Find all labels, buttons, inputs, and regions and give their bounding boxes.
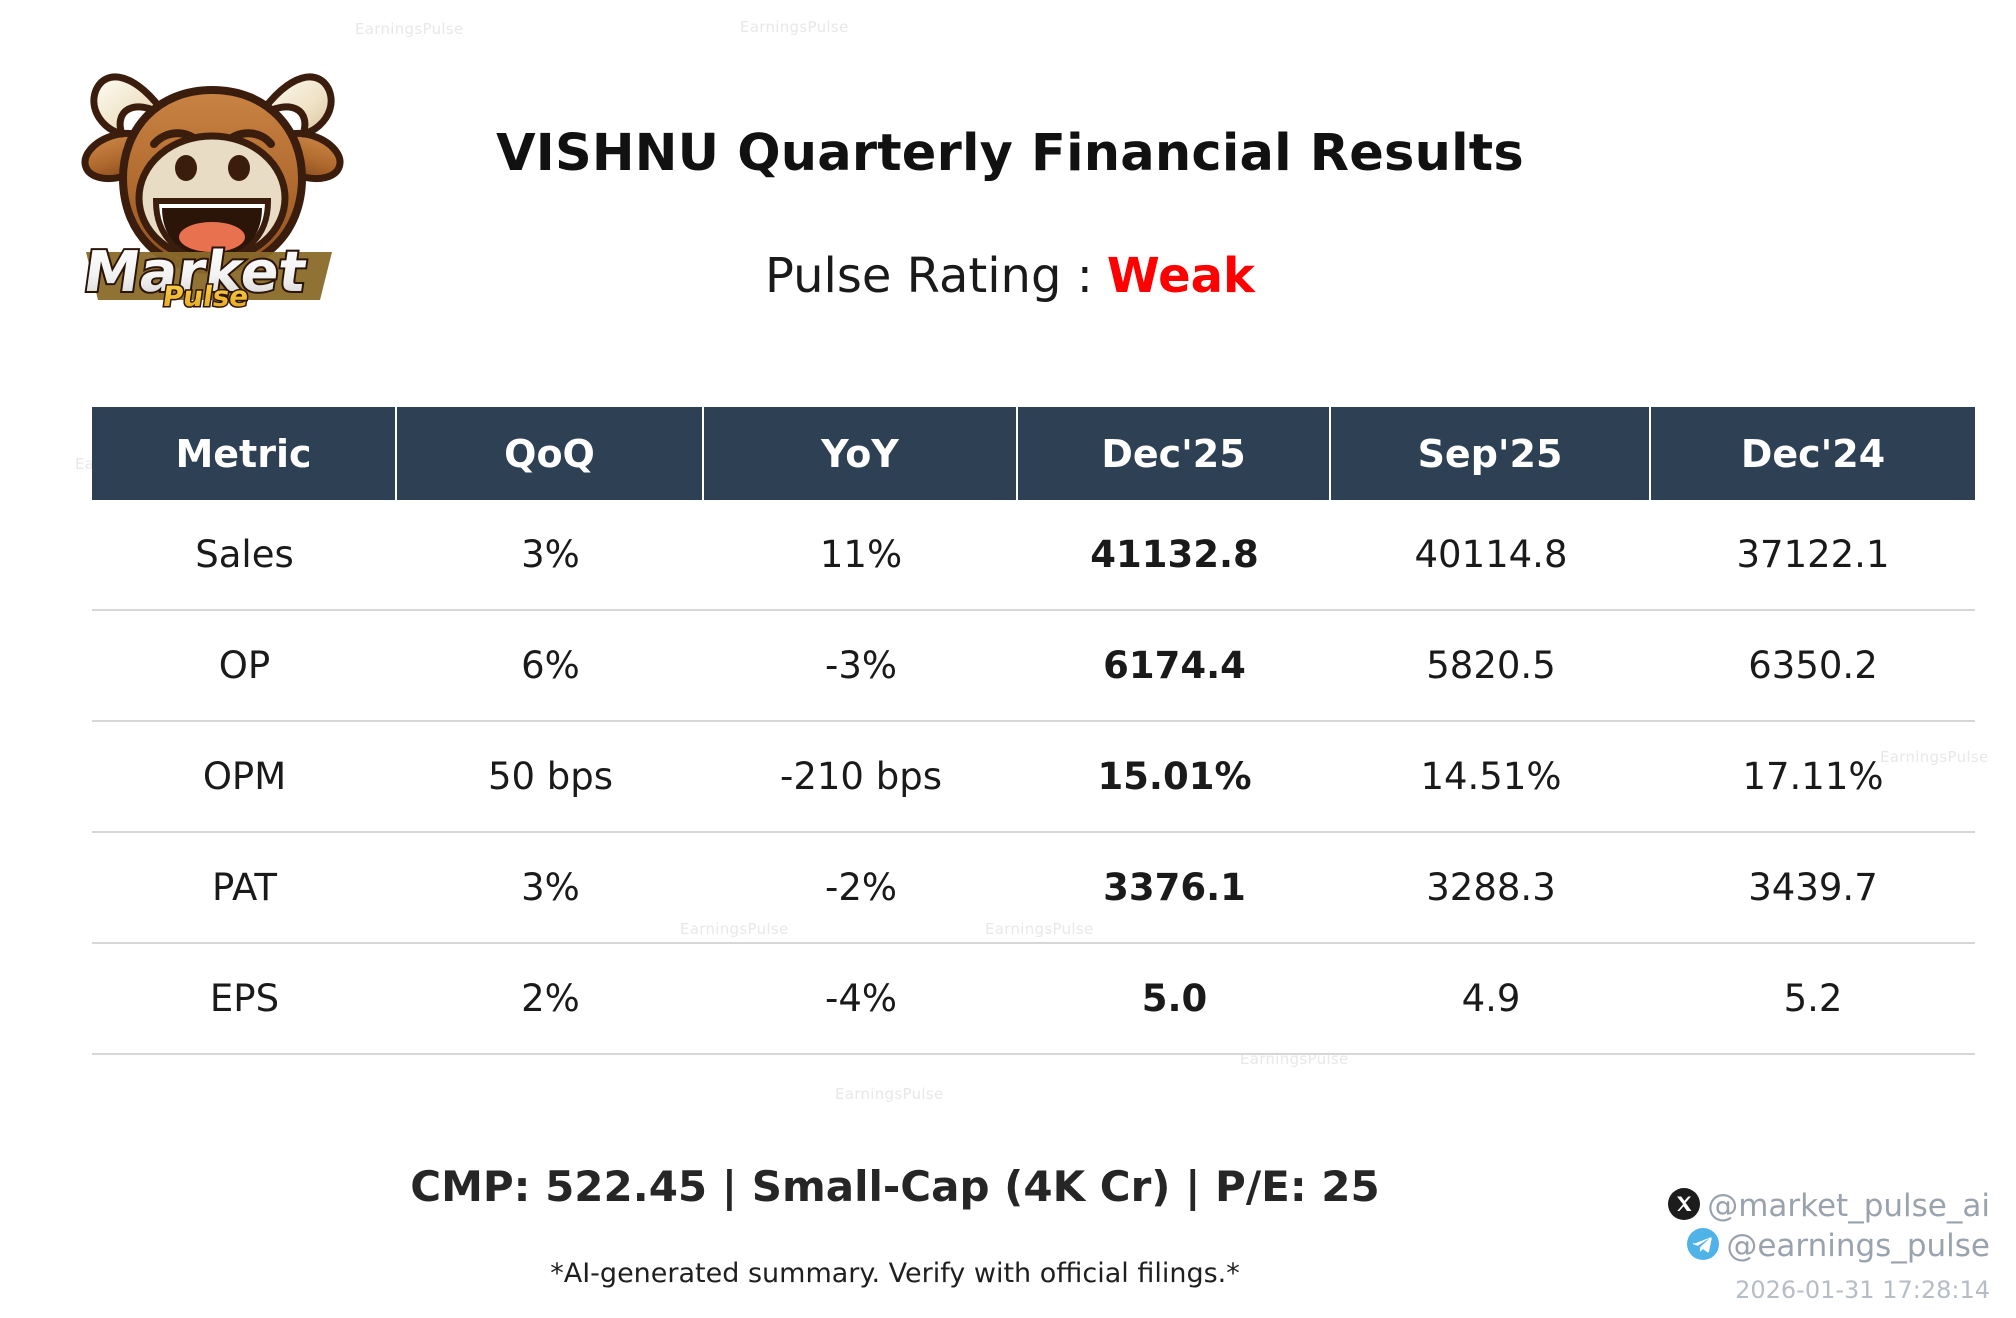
pulse-rating: Pulse Rating :Weak bbox=[330, 248, 1690, 304]
table-row: EPS2%-4%5.04.95.2 bbox=[92, 944, 1975, 1055]
generated-timestamp: 2026-01-31 17:28:14 bbox=[1668, 1276, 1990, 1304]
cell-qoq: 3% bbox=[397, 833, 704, 942]
cell-prev-quarter: 40114.8 bbox=[1331, 500, 1651, 609]
cmp-summary: CMP: 522.45 | Small-Cap (4K Cr) | P/E: 2… bbox=[130, 1162, 1660, 1211]
watermark-text: EarningsPulse bbox=[740, 18, 849, 36]
page-title: VISHNU Quarterly Financial Results bbox=[330, 124, 1690, 183]
table-header-row: Metric QoQ YoY Dec'25 Sep'25 Dec'24 bbox=[92, 407, 1975, 500]
cell-current-quarter: 3376.1 bbox=[1018, 833, 1331, 942]
cell-yoy: -2% bbox=[704, 833, 1018, 942]
cell-metric: EPS bbox=[92, 944, 397, 1053]
table-body: Sales3%11%41132.840114.837122.1OP6%-3%61… bbox=[92, 500, 1975, 1055]
column-header-qoq: QoQ bbox=[397, 407, 704, 500]
results-card: EarningsPulseEarningsPulseEarningsPulseE… bbox=[0, 0, 2016, 1318]
cell-prev-quarter: 4.9 bbox=[1331, 944, 1651, 1053]
cell-year-ago-quarter: 17.11% bbox=[1651, 722, 1975, 831]
cell-current-quarter: 6174.4 bbox=[1018, 611, 1331, 720]
cell-qoq: 50 bps bbox=[397, 722, 704, 831]
x-handle-label: @market_pulse_ai bbox=[1707, 1188, 1990, 1224]
cell-qoq: 2% bbox=[397, 944, 704, 1053]
cell-yoy: -3% bbox=[704, 611, 1018, 720]
svg-text:Pulse: Pulse bbox=[161, 280, 251, 308]
cell-metric: PAT bbox=[92, 833, 397, 942]
cell-current-quarter: 15.01% bbox=[1018, 722, 1331, 831]
table-row: OP6%-3%6174.45820.56350.2 bbox=[92, 611, 1975, 722]
cell-year-ago-quarter: 3439.7 bbox=[1651, 833, 1975, 942]
cell-year-ago-quarter: 37122.1 bbox=[1651, 500, 1975, 609]
cell-qoq: 3% bbox=[397, 500, 704, 609]
column-header-sep25: Sep'25 bbox=[1331, 407, 1651, 500]
pulse-rating-value: Weak bbox=[1107, 248, 1255, 304]
watermark-text: EarningsPulse bbox=[835, 1085, 944, 1103]
social-row-x[interactable]: @market_pulse_ai bbox=[1668, 1186, 1990, 1226]
cell-year-ago-quarter: 6350.2 bbox=[1651, 611, 1975, 720]
table-row: OPM50 bps-210 bps15.01%14.51%17.11% bbox=[92, 722, 1975, 833]
cell-year-ago-quarter: 5.2 bbox=[1651, 944, 1975, 1053]
cell-yoy: -210 bps bbox=[704, 722, 1018, 831]
column-header-dec24: Dec'24 bbox=[1651, 407, 1975, 500]
telegram-icon bbox=[1687, 1228, 1719, 1264]
social-row-telegram[interactable]: @earnings_pulse bbox=[1668, 1226, 1990, 1266]
pulse-rating-label: Pulse Rating : bbox=[765, 248, 1093, 304]
x-twitter-icon bbox=[1668, 1188, 1700, 1224]
cell-yoy: -4% bbox=[704, 944, 1018, 1053]
watermark-text: EarningsPulse bbox=[355, 20, 464, 38]
disclaimer-text: *AI-generated summary. Verify with offic… bbox=[130, 1258, 1660, 1289]
social-handles: @market_pulse_ai @earnings_pulse 2026-01… bbox=[1668, 1186, 1990, 1304]
table-row: Sales3%11%41132.840114.837122.1 bbox=[92, 500, 1975, 611]
telegram-handle-label: @earnings_pulse bbox=[1726, 1228, 1990, 1264]
cell-prev-quarter: 14.51% bbox=[1331, 722, 1651, 831]
column-header-dec25: Dec'25 bbox=[1018, 407, 1331, 500]
table-row: PAT3%-2%3376.13288.33439.7 bbox=[92, 833, 1975, 944]
cell-current-quarter: 5.0 bbox=[1018, 944, 1331, 1053]
cell-yoy: 11% bbox=[704, 500, 1018, 609]
financial-results-table: Metric QoQ YoY Dec'25 Sep'25 Dec'24 Sale… bbox=[92, 407, 1975, 1055]
cell-metric: Sales bbox=[92, 500, 397, 609]
cell-prev-quarter: 3288.3 bbox=[1331, 833, 1651, 942]
cell-prev-quarter: 5820.5 bbox=[1331, 611, 1651, 720]
market-pulse-logo: Market Pulse bbox=[70, 38, 355, 308]
cell-current-quarter: 41132.8 bbox=[1018, 500, 1331, 609]
cell-qoq: 6% bbox=[397, 611, 704, 720]
column-header-metric: Metric bbox=[92, 407, 397, 500]
cell-metric: OPM bbox=[92, 722, 397, 831]
cell-metric: OP bbox=[92, 611, 397, 720]
column-header-yoy: YoY bbox=[704, 407, 1018, 500]
